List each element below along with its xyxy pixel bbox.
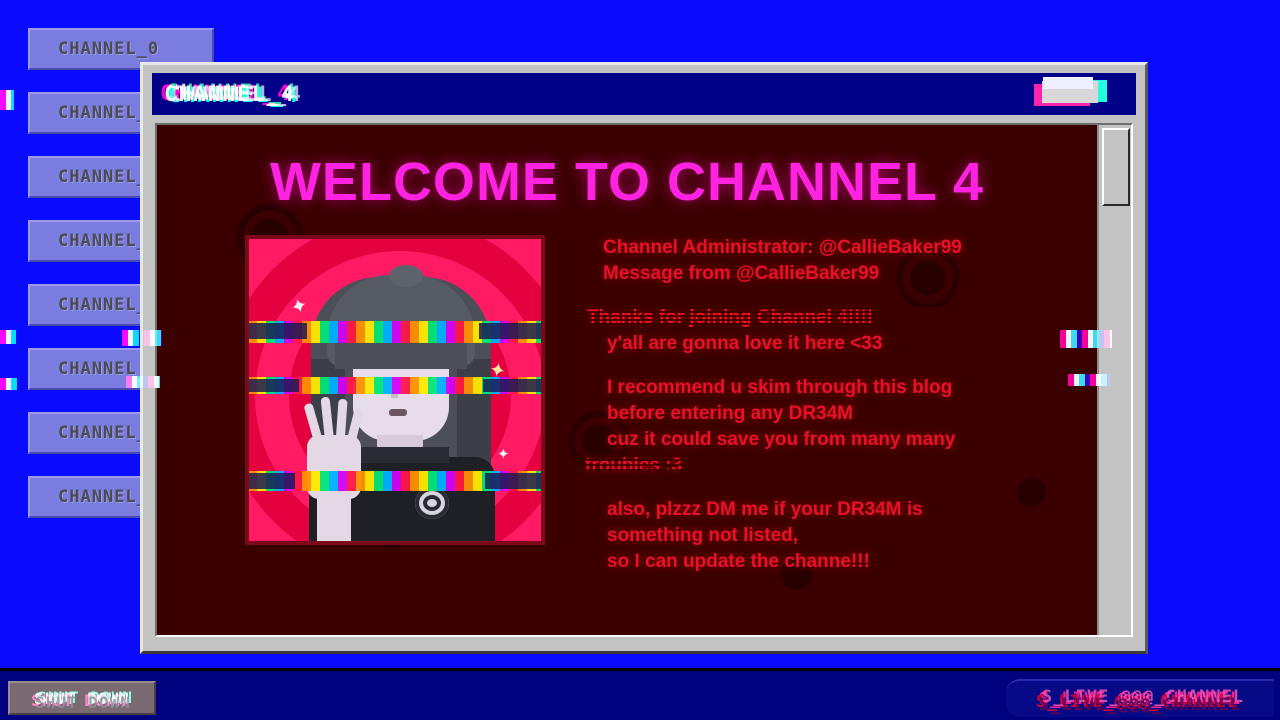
avatar-collar — [353, 447, 449, 463]
message-line: something not listed, — [603, 523, 962, 549]
glitch-slab-avatar — [483, 379, 545, 392]
admin-block: Channel Administrator: @CallieBaker99 Me… — [603, 235, 962, 287]
system-tray[interactable]: S_LIVE_@@@_CHANNEL S_LIVE_@@@_CHANNEL S_… — [1006, 679, 1274, 717]
scrollbar[interactable] — [1097, 125, 1131, 635]
message-line: cuz it could save you from many many — [603, 427, 962, 453]
scrollbar-thumb[interactable] — [1102, 128, 1130, 206]
message-from-line: Message from @CallieBaker99 — [603, 261, 962, 287]
desktop: CHANNEL_0 CHANNEL_1 CHANNEL_2 CHANNEL_3 … — [0, 0, 1280, 668]
admin-line: Channel Administrator: @CallieBaker99 — [603, 235, 962, 261]
sidebar-item-label: CHANNEL_0 — [58, 39, 159, 59]
message-line: y'all are gonna love it here <33 — [603, 331, 962, 357]
message-block-3: also, plzzz DM me if your DR34M is somet… — [603, 497, 962, 575]
glitch-slab-avatar — [479, 323, 545, 339]
rose-icon — [415, 487, 449, 519]
tray-ghost-shadow: S_LIVE_@@@_CHANNEL — [1039, 695, 1241, 715]
glitch-band — [0, 330, 16, 344]
minimize-icon[interactable] — [1043, 77, 1093, 89]
message-line: so I can update the channe!!! — [603, 549, 962, 575]
tray-label-wrap: S_LIVE_@@@_CHANNEL S_LIVE_@@@_CHANNEL S_… — [1039, 689, 1241, 709]
window-titlebar[interactable]: CHANNEL_4 CHANNEL_4 CHANNEL_4 CHANNEL_4 … — [152, 73, 1136, 115]
message-line: before entering any DR34M — [603, 401, 962, 427]
glitch-band — [0, 90, 14, 110]
message-line: troubles :3 — [585, 453, 962, 479]
channel-message: Channel Administrator: @CallieBaker99 Me… — [603, 235, 962, 593]
shutdown-button[interactable]: SHUT DOWN SHUT DOWN SHUT DOWN SHUT DOWN — [8, 681, 156, 715]
shutdown-ghost-grey: SHUT DOWN — [35, 693, 131, 712]
message-line: also, plzzz DM me if your DR34M is — [603, 497, 962, 523]
avatar-hair-knot — [389, 265, 423, 287]
glitch-slab-avatar — [245, 473, 295, 489]
taskbar: SHUT DOWN SHUT DOWN SHUT DOWN SHUT DOWN … — [0, 668, 1280, 720]
glitch-slab-avatar — [485, 473, 545, 489]
window-controls[interactable] — [1042, 81, 1108, 107]
window-title: CHANNEL_4 CHANNEL_4 CHANNEL_4 CHANNEL_4 … — [164, 82, 296, 106]
message-line: Thanks for joining Channel 4!!!! — [587, 305, 962, 331]
message-line: I recommend u skim through this blog — [603, 375, 962, 401]
message-block-1: Thanks for joining Channel 4!!!! y'all a… — [603, 305, 962, 357]
glitch-band — [0, 378, 22, 390]
glitch-slab-avatar — [245, 379, 299, 392]
page-title: WELCOME TO CHANNEL 4 — [157, 151, 1097, 213]
avatar: ✦ ✦ ✦ — [245, 235, 545, 545]
window-content-well: WELCOME TO CHANNEL 4 — [155, 123, 1133, 637]
channel-page: WELCOME TO CHANNEL 4 — [157, 125, 1097, 635]
avatar-mouth — [389, 409, 407, 416]
shutdown-label-wrap: SHUT DOWN SHUT DOWN SHUT DOWN SHUT DOWN — [34, 689, 130, 708]
message-block-2: I recommend u skim through this blog bef… — [603, 375, 962, 479]
channel-window: CHANNEL_4 CHANNEL_4 CHANNEL_4 CHANNEL_4 … — [140, 62, 1148, 654]
glitch-slab-avatar — [245, 323, 307, 339]
sparkle-icon: ✦ — [497, 447, 510, 462]
window-title-ghost-white: CHANNEL_4 — [171, 82, 303, 106]
